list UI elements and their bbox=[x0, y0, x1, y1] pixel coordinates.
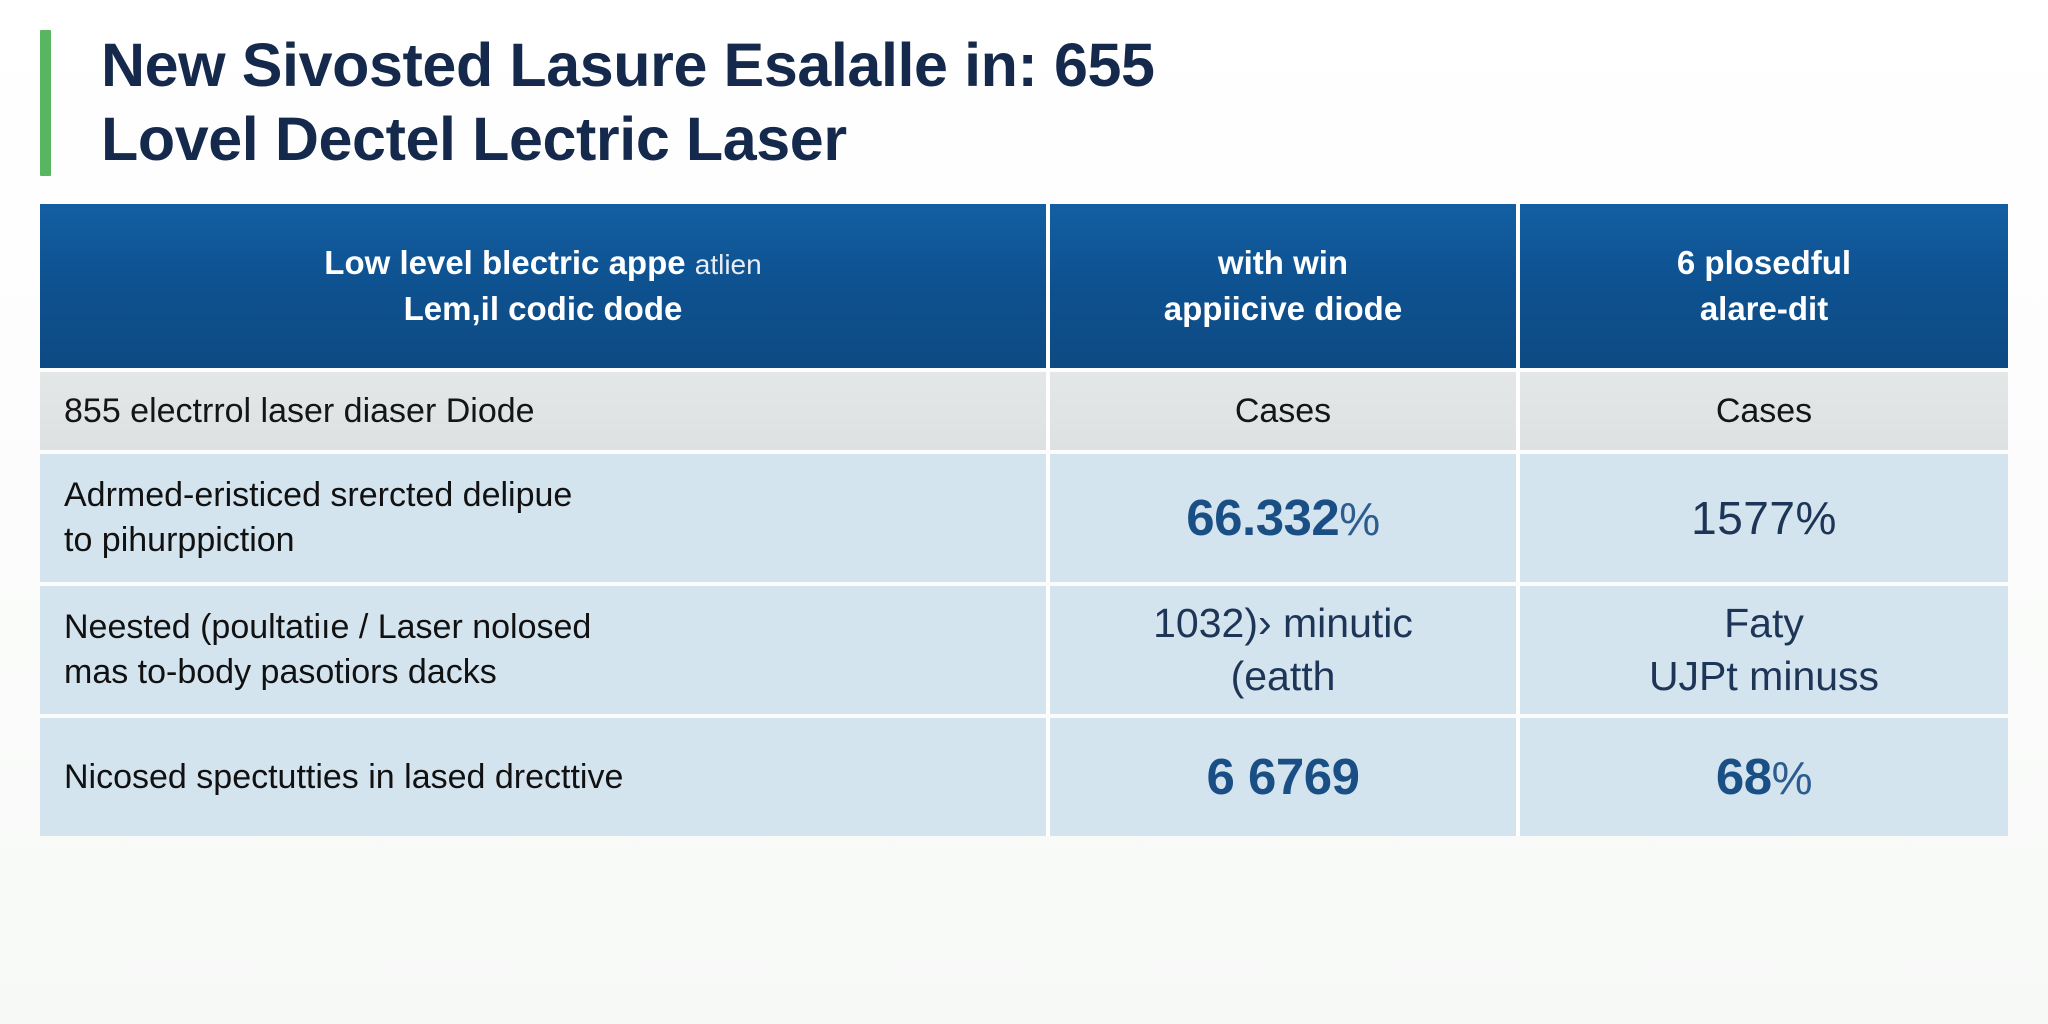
header-col-b-line-2: appiicive diode bbox=[1164, 286, 1402, 332]
table-row: Nicosed spectutties in lased drecttive 6… bbox=[40, 718, 2008, 836]
header-col-a-line-1: Low level blectric appe atlien bbox=[324, 240, 761, 286]
row-3-value-b-line-2: (eatth bbox=[1231, 650, 1336, 703]
row-4-label: Nicosed spectutties in lased drecttive bbox=[64, 755, 623, 800]
row-2-label-cell: Adrmed-eristiced srercted delipue to pih… bbox=[40, 454, 1046, 582]
row-2-value-b-cell: 66.332% bbox=[1046, 454, 1516, 582]
header-cell-plosedful: 6 plosedful alare-dit bbox=[1516, 204, 2008, 368]
table-row: Adrmed-eristiced srercted delipue to pih… bbox=[40, 454, 2008, 582]
header-col-a-light: atlien bbox=[695, 249, 762, 280]
row-2-value-b: 66.332 bbox=[1186, 489, 1339, 546]
title-accent-bar bbox=[40, 30, 51, 176]
header-col-a-strong: Low level blectric appe bbox=[324, 244, 685, 281]
table-header-row: Low level blectric appe atlien Lem,il co… bbox=[40, 204, 2008, 368]
table-row: Neested (poultatiıe / Laser nolosed mas … bbox=[40, 586, 2008, 714]
header-cell-with-diode: with win appiicive diode bbox=[1046, 204, 1516, 368]
header-col-c-line-1: 6 plosedful bbox=[1677, 240, 1851, 286]
row-4-label-cell: Nicosed spectutties in lased drecttive bbox=[40, 718, 1046, 836]
row-1-label-cell: 855 electrrol laser diaser Diode bbox=[40, 372, 1046, 450]
row-1-label: 855 electrrol laser diaser Diode bbox=[64, 389, 535, 434]
slide-canvas: New Sivosted Lasure Esalalle in: 655 Lov… bbox=[0, 0, 2048, 1024]
header-col-a-line-2: Lem,il codic dode bbox=[404, 286, 683, 332]
page-title-line-2: Lovel Dectel Lectric Laser bbox=[101, 102, 1155, 176]
row-3-value-c-line-2: UJPt minuss bbox=[1649, 650, 1879, 703]
row-3-label-line-2: mas to-body pasotiors dacks bbox=[64, 650, 591, 695]
header-col-b-line-1: with win bbox=[1218, 240, 1348, 286]
row-1-value-c-cell: Cases bbox=[1516, 372, 2008, 450]
title-block: New Sivosted Lasure Esalalle in: 655 Lov… bbox=[40, 28, 1940, 178]
row-4-value-b: 6 6769 bbox=[1207, 743, 1360, 810]
row-1-value-b-cell: Cases bbox=[1046, 372, 1516, 450]
data-table: Low level blectric appe atlien Lem,il co… bbox=[40, 204, 2008, 836]
page-title: New Sivosted Lasure Esalalle in: 655 Lov… bbox=[101, 28, 1155, 177]
row-3-label-line-1: Neested (poultatiıe / Laser nolosed bbox=[64, 605, 591, 650]
row-3-label-cell: Neested (poultatiıe / Laser nolosed mas … bbox=[40, 586, 1046, 714]
row-2-value-c-cell: 1577% bbox=[1516, 454, 2008, 582]
row-4-value-c-cell: 68% bbox=[1516, 718, 2008, 836]
row-2-value-c: 1577% bbox=[1691, 488, 1837, 549]
table-row: 855 electrrol laser diaser Diode Cases C… bbox=[40, 372, 2008, 450]
row-1-value-c: Cases bbox=[1716, 389, 1812, 434]
row-3-value-c-line-1: Faty bbox=[1724, 597, 1804, 650]
row-3-value-b-cell: 1032)› minutic (eatth bbox=[1046, 586, 1516, 714]
row-3-value-b-line-1: 1032)› minutic bbox=[1153, 597, 1413, 650]
row-4-value-c: 68 bbox=[1716, 748, 1772, 805]
row-2-label-line-1: Adrmed-eristiced srercted delipue bbox=[64, 473, 572, 518]
header-col-c-line-2: alare-dit bbox=[1700, 286, 1828, 332]
row-2-label-line-2: to pihurppiction bbox=[64, 518, 572, 563]
row-3-value-c-cell: Faty UJPt minuss bbox=[1516, 586, 2008, 714]
row-4-value-b-cell: 6 6769 bbox=[1046, 718, 1516, 836]
header-cell-treatment: Low level blectric appe atlien Lem,il co… bbox=[40, 204, 1046, 368]
row-4-value-c-suffix: % bbox=[1772, 752, 1812, 804]
page-title-line-1: New Sivosted Lasure Esalalle in: 655 bbox=[101, 28, 1155, 102]
row-1-value-b: Cases bbox=[1235, 389, 1331, 434]
row-2-value-b-suffix: % bbox=[1339, 493, 1379, 545]
